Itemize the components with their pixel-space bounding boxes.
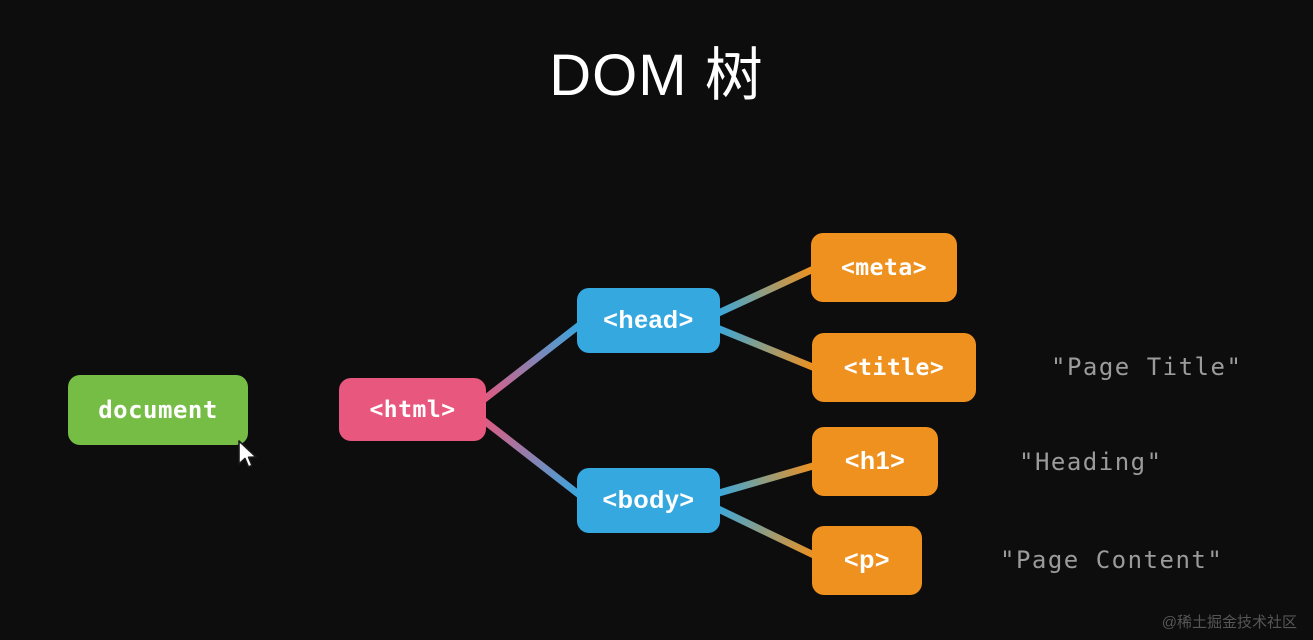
edge-html-body: [478, 416, 586, 500]
node-h1[interactable]: <h1>: [812, 427, 938, 496]
page-title: DOM 树: [0, 28, 1313, 112]
text-node-page-title: "Page Title": [1051, 353, 1242, 381]
node-html[interactable]: <html>: [339, 378, 486, 441]
node-body[interactable]: <body>: [577, 468, 720, 533]
node-p-label: <p>: [844, 546, 890, 575]
text-node-heading-label: "Heading": [1019, 448, 1163, 476]
text-node-page-content-label: "Page Content": [1000, 546, 1223, 574]
text-node-page-title-label: "Page Title": [1051, 353, 1242, 381]
node-title[interactable]: <title>: [812, 333, 976, 402]
edge-body-p: [712, 506, 820, 558]
edge-head-title: [712, 326, 820, 370]
edge-head-meta: [712, 266, 820, 316]
dom-tree-slide: DOM 树: [0, 0, 1313, 640]
node-meta[interactable]: <meta>: [811, 233, 957, 302]
node-meta-label: <meta>: [841, 255, 927, 281]
node-document[interactable]: document: [68, 375, 248, 445]
edge-html-head: [478, 320, 586, 404]
node-body-label: <body>: [603, 486, 695, 515]
watermark: @稀土掘金技术社区: [1162, 611, 1297, 632]
edge-body-h1: [712, 464, 820, 495]
node-html-label: <html>: [369, 397, 455, 423]
text-node-page-content: "Page Content": [1000, 546, 1223, 574]
node-h1-label: <h1>: [845, 447, 905, 476]
node-document-label: document: [98, 396, 218, 424]
node-head-label: <head>: [603, 306, 694, 335]
node-p[interactable]: <p>: [812, 526, 922, 595]
text-node-heading: "Heading": [1019, 448, 1163, 476]
node-title-label: <title>: [844, 355, 944, 381]
node-head[interactable]: <head>: [577, 288, 720, 353]
